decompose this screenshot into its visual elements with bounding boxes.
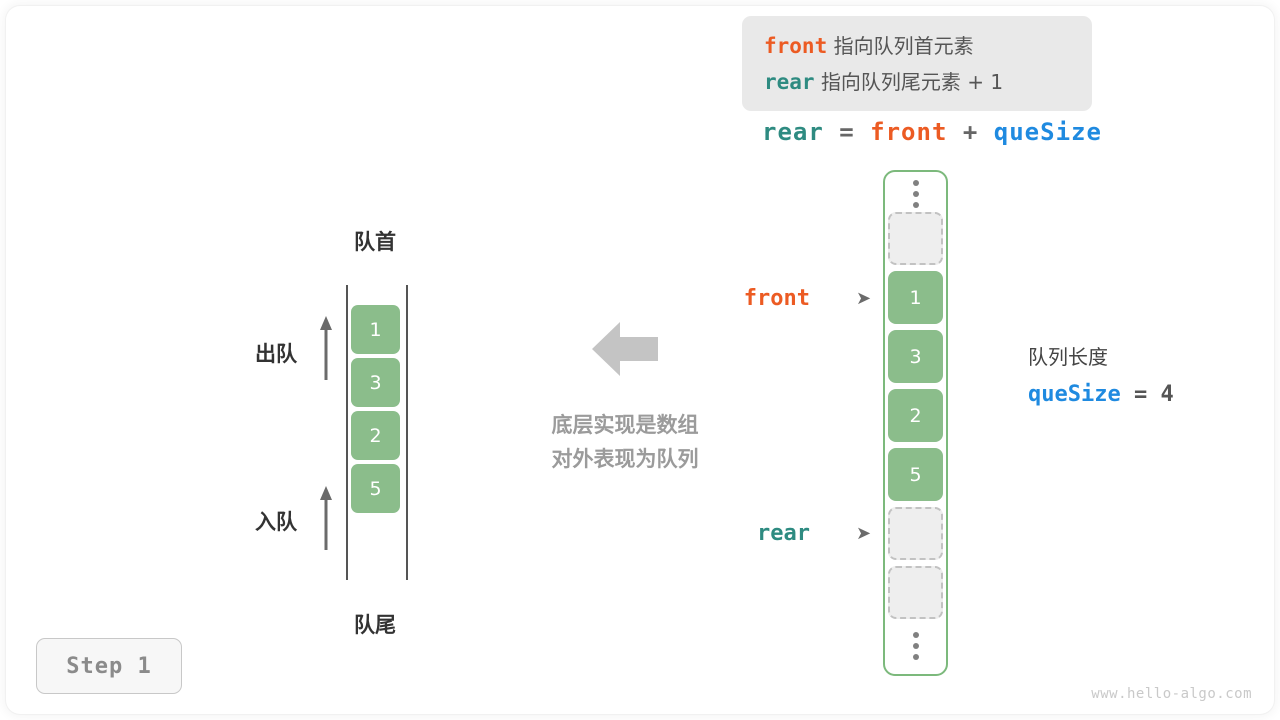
array-slot-filled: 1 — [888, 271, 943, 324]
formula-quesize: queSize — [994, 118, 1102, 146]
rear-formula: rear = front + queSize — [762, 118, 1102, 146]
queue-cell: 2 — [351, 411, 400, 460]
formula-plus: + — [963, 118, 978, 146]
array-slot-filled: 2 — [888, 389, 943, 442]
quesize-name: queSize — [1028, 382, 1121, 407]
rear-pointer-label: rear — [700, 521, 810, 546]
front-pointer-label: front — [700, 286, 810, 311]
formula-front: front — [870, 118, 947, 146]
formula-rear: rear — [762, 118, 824, 146]
watermark: www.hello-algo.com — [1091, 686, 1252, 702]
array-slot-filled: 5 — [888, 448, 943, 501]
array-slot-empty — [888, 212, 943, 265]
quesize-equals: = — [1134, 382, 1147, 407]
queue-cell: 3 — [351, 358, 400, 407]
rear-definition-text: 指向队列尾元素 + 1 — [821, 70, 1003, 94]
queue-size-block: 队列长度 queSize = 4 — [1028, 341, 1174, 413]
front-definition-text: 指向队列首元素 — [834, 34, 974, 58]
caption-line-1: 底层实现是数组 — [520, 408, 730, 442]
enqueue-arrow-icon — [318, 486, 334, 550]
pointer-definition-box: front 指向队列首元素 rear 指向队列尾元素 + 1 — [742, 16, 1092, 111]
queue-tail-label: 队尾 — [345, 609, 405, 639]
left-arrow-icon — [592, 320, 658, 378]
queue-rail-right — [406, 285, 408, 580]
middle-caption: 底层实现是数组 对外表现为队列 — [520, 408, 730, 476]
queue-cell: 1 — [351, 305, 400, 354]
array-slot-empty — [888, 507, 943, 560]
quesize-value: 4 — [1160, 382, 1173, 407]
vertical-ellipsis-icon — [888, 632, 943, 660]
formula-equals: = — [839, 118, 854, 146]
front-definition-line: front 指向队列首元素 — [764, 28, 1092, 64]
step-badge: Step 1 — [36, 638, 182, 694]
enqueue-label: 入队 — [255, 506, 297, 536]
rear-pointer-arrow-icon: ➤ — [856, 525, 871, 543]
dequeue-arrow-icon — [318, 316, 334, 380]
queue-size-expression: queSize = 4 — [1028, 377, 1174, 413]
array-slot-empty — [888, 566, 943, 619]
queue-size-title: 队列长度 — [1028, 341, 1174, 373]
dequeue-label: 出队 — [255, 338, 297, 368]
diagram-canvas: front 指向队列首元素 rear 指向队列尾元素 + 1 rear = fr… — [0, 0, 1280, 720]
rear-definition-line: rear 指向队列尾元素 + 1 — [764, 64, 1092, 100]
queue-head-label: 队首 — [345, 226, 405, 256]
front-keyword: front — [764, 34, 827, 58]
queue-cell: 5 — [351, 464, 400, 513]
vertical-ellipsis-icon — [888, 180, 943, 208]
front-pointer-arrow-icon: ➤ — [856, 290, 871, 308]
rear-keyword: rear — [764, 70, 815, 94]
caption-line-2: 对外表现为队列 — [520, 442, 730, 476]
array-slot-filled: 3 — [888, 330, 943, 383]
queue-rail-left — [346, 285, 348, 580]
